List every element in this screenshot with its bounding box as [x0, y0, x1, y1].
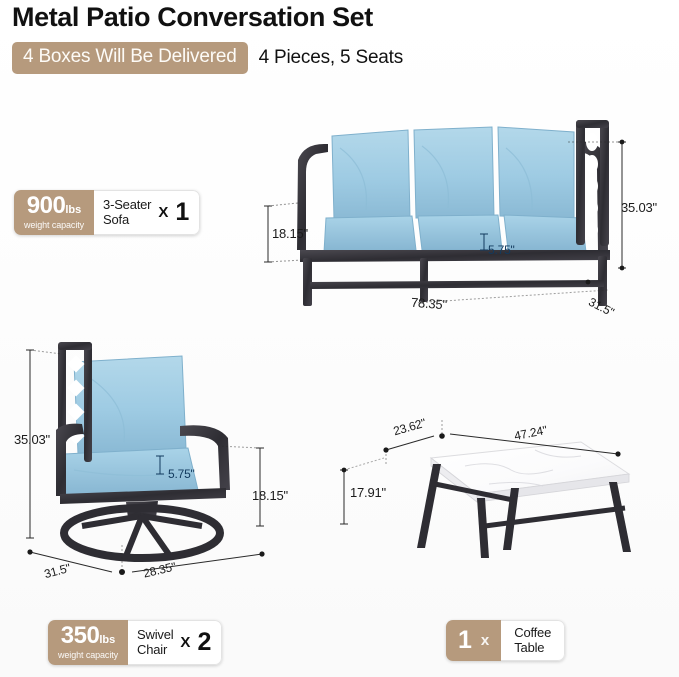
sofa-item-info: 3-Seater Sofa X 1 — [94, 190, 200, 235]
table-item-name: Coffee Table — [514, 626, 551, 655]
chair-weight-capacity: 350lbs weight capacity — [48, 620, 128, 665]
chair-item-info: Swivel Chair X 2 — [128, 620, 222, 665]
table-quantity-badge: 1 x Coffee Table — [446, 620, 565, 661]
header-subrow: 4 Boxes Will Be Delivered 4 Pieces, 5 Se… — [12, 42, 403, 74]
table-dimension-lines — [330, 408, 650, 548]
pieces-seats-label: 4 Pieces, 5 Seats — [259, 47, 403, 69]
sofa-capacity-badge: 900lbs weight capacity 3-Seater Sofa X 1 — [14, 190, 200, 235]
sofa-capacity-caption: weight capacity — [24, 220, 84, 230]
sofa-dimension-lines — [258, 110, 678, 320]
chair-quantity: 2 — [197, 630, 211, 655]
table-multiplier: x — [481, 632, 489, 649]
sofa-capacity-value: 900lbs — [27, 194, 81, 218]
sofa-quantity: 1 — [175, 200, 189, 225]
chair-capacity-caption: weight capacity — [58, 650, 118, 660]
page-title: Metal Patio Conversation Set — [12, 2, 373, 33]
chair-capacity-badge: 350lbs weight capacity Swivel Chair X 2 — [48, 620, 222, 665]
table-quantity-group: 1 x — [446, 620, 501, 661]
sofa-multiplier: X — [158, 204, 168, 221]
chair-multiplier: X — [180, 634, 190, 651]
sofa-weight-capacity: 900lbs weight capacity — [14, 190, 94, 235]
chair-dimension-lines — [12, 340, 292, 590]
chair-item-name: Swivel Chair — [137, 628, 173, 657]
chair-capacity-unit: lbs — [99, 634, 115, 646]
sofa-capacity-unit: lbs — [65, 204, 81, 216]
table-item-info: Coffee Table — [501, 620, 565, 661]
sofa-item-name: 3-Seater Sofa — [103, 198, 151, 227]
boxes-delivered-badge: 4 Boxes Will Be Delivered — [12, 42, 248, 74]
table-quantity: 1 — [458, 628, 472, 653]
infographic-canvas: Metal Patio Conversation Set 4 Boxes Wil… — [0, 0, 679, 677]
chair-capacity-value: 350lbs — [61, 624, 115, 648]
